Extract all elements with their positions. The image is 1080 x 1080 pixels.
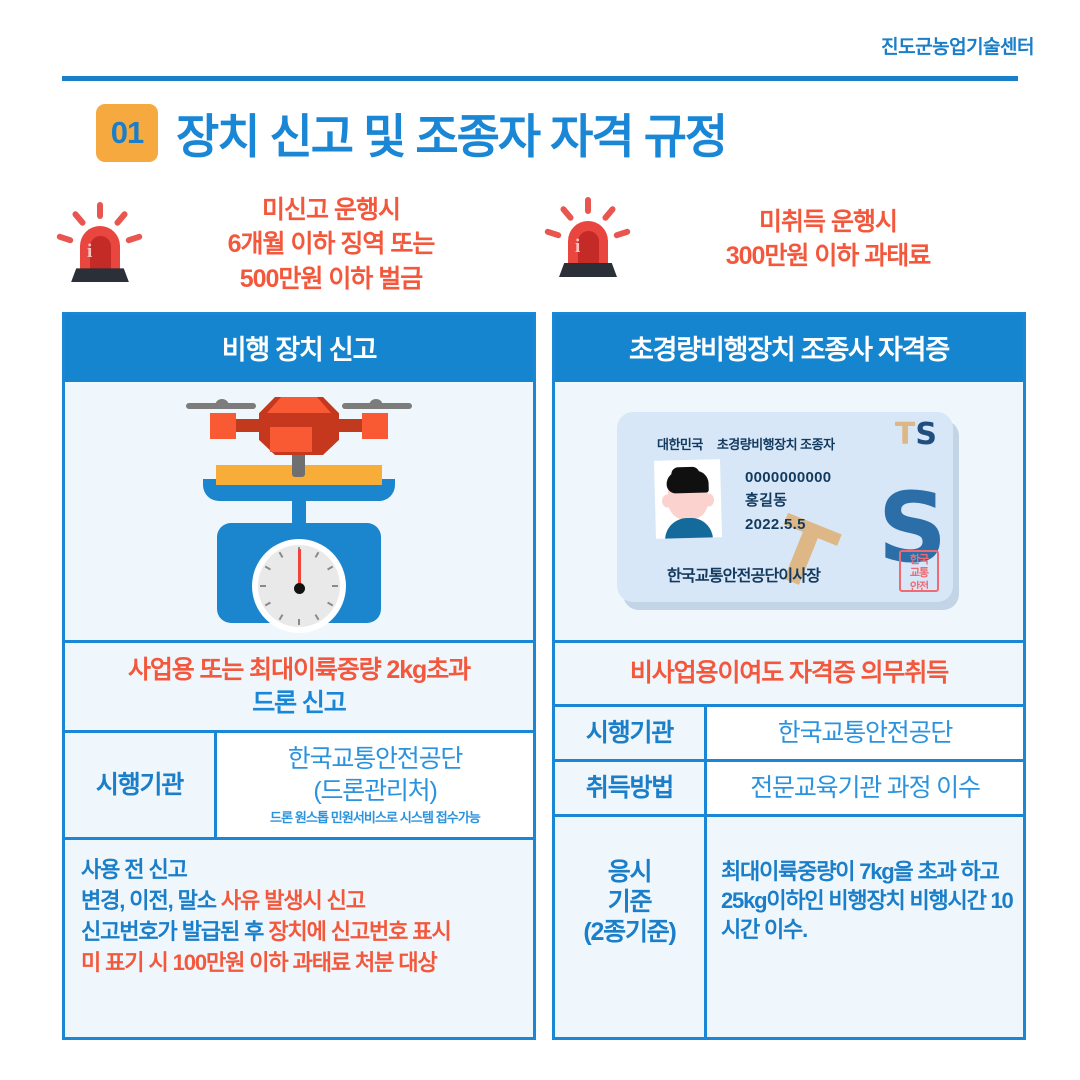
right-banner-scope: 비사업용이여도 자격증 의무취득 bbox=[555, 643, 1023, 707]
siren-icon: i bbox=[60, 198, 138, 290]
ts-logo-icon: TS bbox=[895, 420, 937, 450]
registration-notes-list: 사용 전 신고 변경, 이전, 말소 사유 발생시 신고 신고번호가 발급된 후… bbox=[65, 840, 533, 1037]
list-item: 미 표기 시 100만원 이하 과태료 처분 대상 bbox=[81, 947, 519, 978]
note-orange-2: 장치에 신고번호 표시 bbox=[268, 919, 450, 944]
note-blue-0: 사용 전 신고 bbox=[81, 857, 187, 882]
list-item: 신고번호가 발급된 후 장치에 신고번호 표시 bbox=[81, 916, 519, 947]
card-pilot-license: 초경량비행장치 조종사 자격증 T S TS 대한민국초경량비행장치 조종자 0… bbox=[552, 312, 1026, 1040]
license-title: 대한민국초경량비행장치 조종자 bbox=[657, 434, 835, 453]
left-banner-orange-text: 사업용 또는 최대이륙중량 2kg초과 bbox=[128, 656, 470, 684]
card-flight-device-registration: 비행 장치 신고 bbox=[62, 312, 536, 1040]
page-title-text: 장치 신고 및 조종자 자격 규정 bbox=[176, 98, 726, 167]
list-item: 사용 전 신고 bbox=[81, 854, 519, 885]
pilot-license-illustration: T S TS 대한민국초경량비행장치 조종자 0000000000 홍길동 20… bbox=[555, 382, 1023, 643]
row-value-agency: 한국교통안전공단 bbox=[707, 707, 1023, 759]
agency-note: 드론 원스톱 민원서비스로 시스템 접수가능 bbox=[223, 810, 527, 827]
official-seal-icon: 한국교통안전 bbox=[899, 550, 939, 592]
agency-label: 시행기관 bbox=[65, 733, 217, 837]
note-blue-2: 신고번호가 발급된 후 bbox=[81, 919, 268, 944]
list-item: 변경, 이전, 말소 사유 발생시 신고 bbox=[81, 885, 519, 916]
license-country: 대한민국 bbox=[657, 437, 703, 452]
license-date: 2022.5.5 bbox=[745, 513, 831, 536]
license-type: 초경량비행장치 조종자 bbox=[717, 437, 835, 452]
warning-text-registration: 미신고 운행시 6개월 이하 징역 또는 500만원 이하 벌금 bbox=[138, 193, 540, 296]
warning-banner-registration: i 미신고 운행시 6개월 이하 징역 또는 500만원 이하 벌금 bbox=[60, 193, 540, 296]
note-orange-1: 사유 발생시 신고 bbox=[221, 888, 365, 913]
license-fields: 0000000000 홍길동 2022.5.5 bbox=[745, 466, 831, 536]
license-issuer: 한국교통안전공단이사장 bbox=[667, 562, 820, 586]
row-label-agency: 시행기관 bbox=[555, 707, 707, 759]
license-photo-avatar bbox=[654, 459, 722, 539]
note-orange-3: 미 표기 시 100만원 이하 과태료 처분 대상 bbox=[81, 950, 437, 975]
criteria-label-line1: 응시 bbox=[559, 857, 700, 887]
criteria-label-line3: (2종기준) bbox=[559, 917, 700, 947]
org-name: 진도군농업기술센터 bbox=[881, 32, 1034, 59]
note-blue-1: 변경, 이전, 말소 bbox=[81, 888, 221, 913]
table-row-criteria: 응시 기준 (2종기준) 최대이륙중량이 7kg을 초과 하고 25kg이하인 … bbox=[555, 817, 1023, 1038]
warning-banner-license: i 미취득 운행시 300만원 이하 과태료 bbox=[548, 193, 1038, 285]
agency-value-line1: 한국교통안전공단 bbox=[223, 743, 527, 775]
warning-text-license: 미취득 운행시 300만원 이하 과태료 bbox=[626, 205, 1038, 274]
page-title: 01 장치 신고 및 조종자 자격 규정 bbox=[96, 98, 726, 167]
agency-value: 한국교통안전공단 (드론관리처) 드론 원스톱 민원서비스로 시스템 접수가능 bbox=[217, 733, 533, 837]
agency-value-line2: (드론관리처) bbox=[223, 775, 527, 807]
license-number: 0000000000 bbox=[745, 466, 831, 489]
left-banner-scope: 사업용 또는 최대이륙중량 2kg초과 드론 신고 bbox=[65, 643, 533, 733]
section-number-badge: 01 bbox=[96, 104, 158, 162]
criteria-label: 응시 기준 (2종기준) bbox=[555, 817, 707, 1038]
table-row-agency-right: 시행기관 한국교통안전공단 bbox=[555, 707, 1023, 762]
siren-icon: i bbox=[548, 193, 626, 285]
criteria-value: 최대이륙중량이 7kg을 초과 하고 25kg이하인 비행장치 비행시간 10시… bbox=[707, 817, 1023, 1038]
row-value-method: 전문교육기관 과정 이수 bbox=[707, 762, 1023, 814]
license-name: 홍길동 bbox=[745, 489, 831, 512]
table-row-agency-left: 시행기관 한국교통안전공단 (드론관리처) 드론 원스톱 민원서비스로 시스템 … bbox=[65, 733, 533, 840]
header-divider bbox=[62, 76, 1018, 81]
card-left-heading: 비행 장치 신고 bbox=[65, 315, 533, 382]
left-banner-blue-text: 드론 신고 bbox=[73, 687, 525, 720]
card-right-heading: 초경량비행장치 조종사 자격증 bbox=[555, 315, 1023, 382]
drone-on-scale-illustration bbox=[65, 382, 533, 643]
table-row-method: 취득방법 전문교육기관 과정 이수 bbox=[555, 762, 1023, 817]
row-label-method: 취득방법 bbox=[555, 762, 707, 814]
criteria-label-line2: 기준 bbox=[559, 887, 700, 917]
